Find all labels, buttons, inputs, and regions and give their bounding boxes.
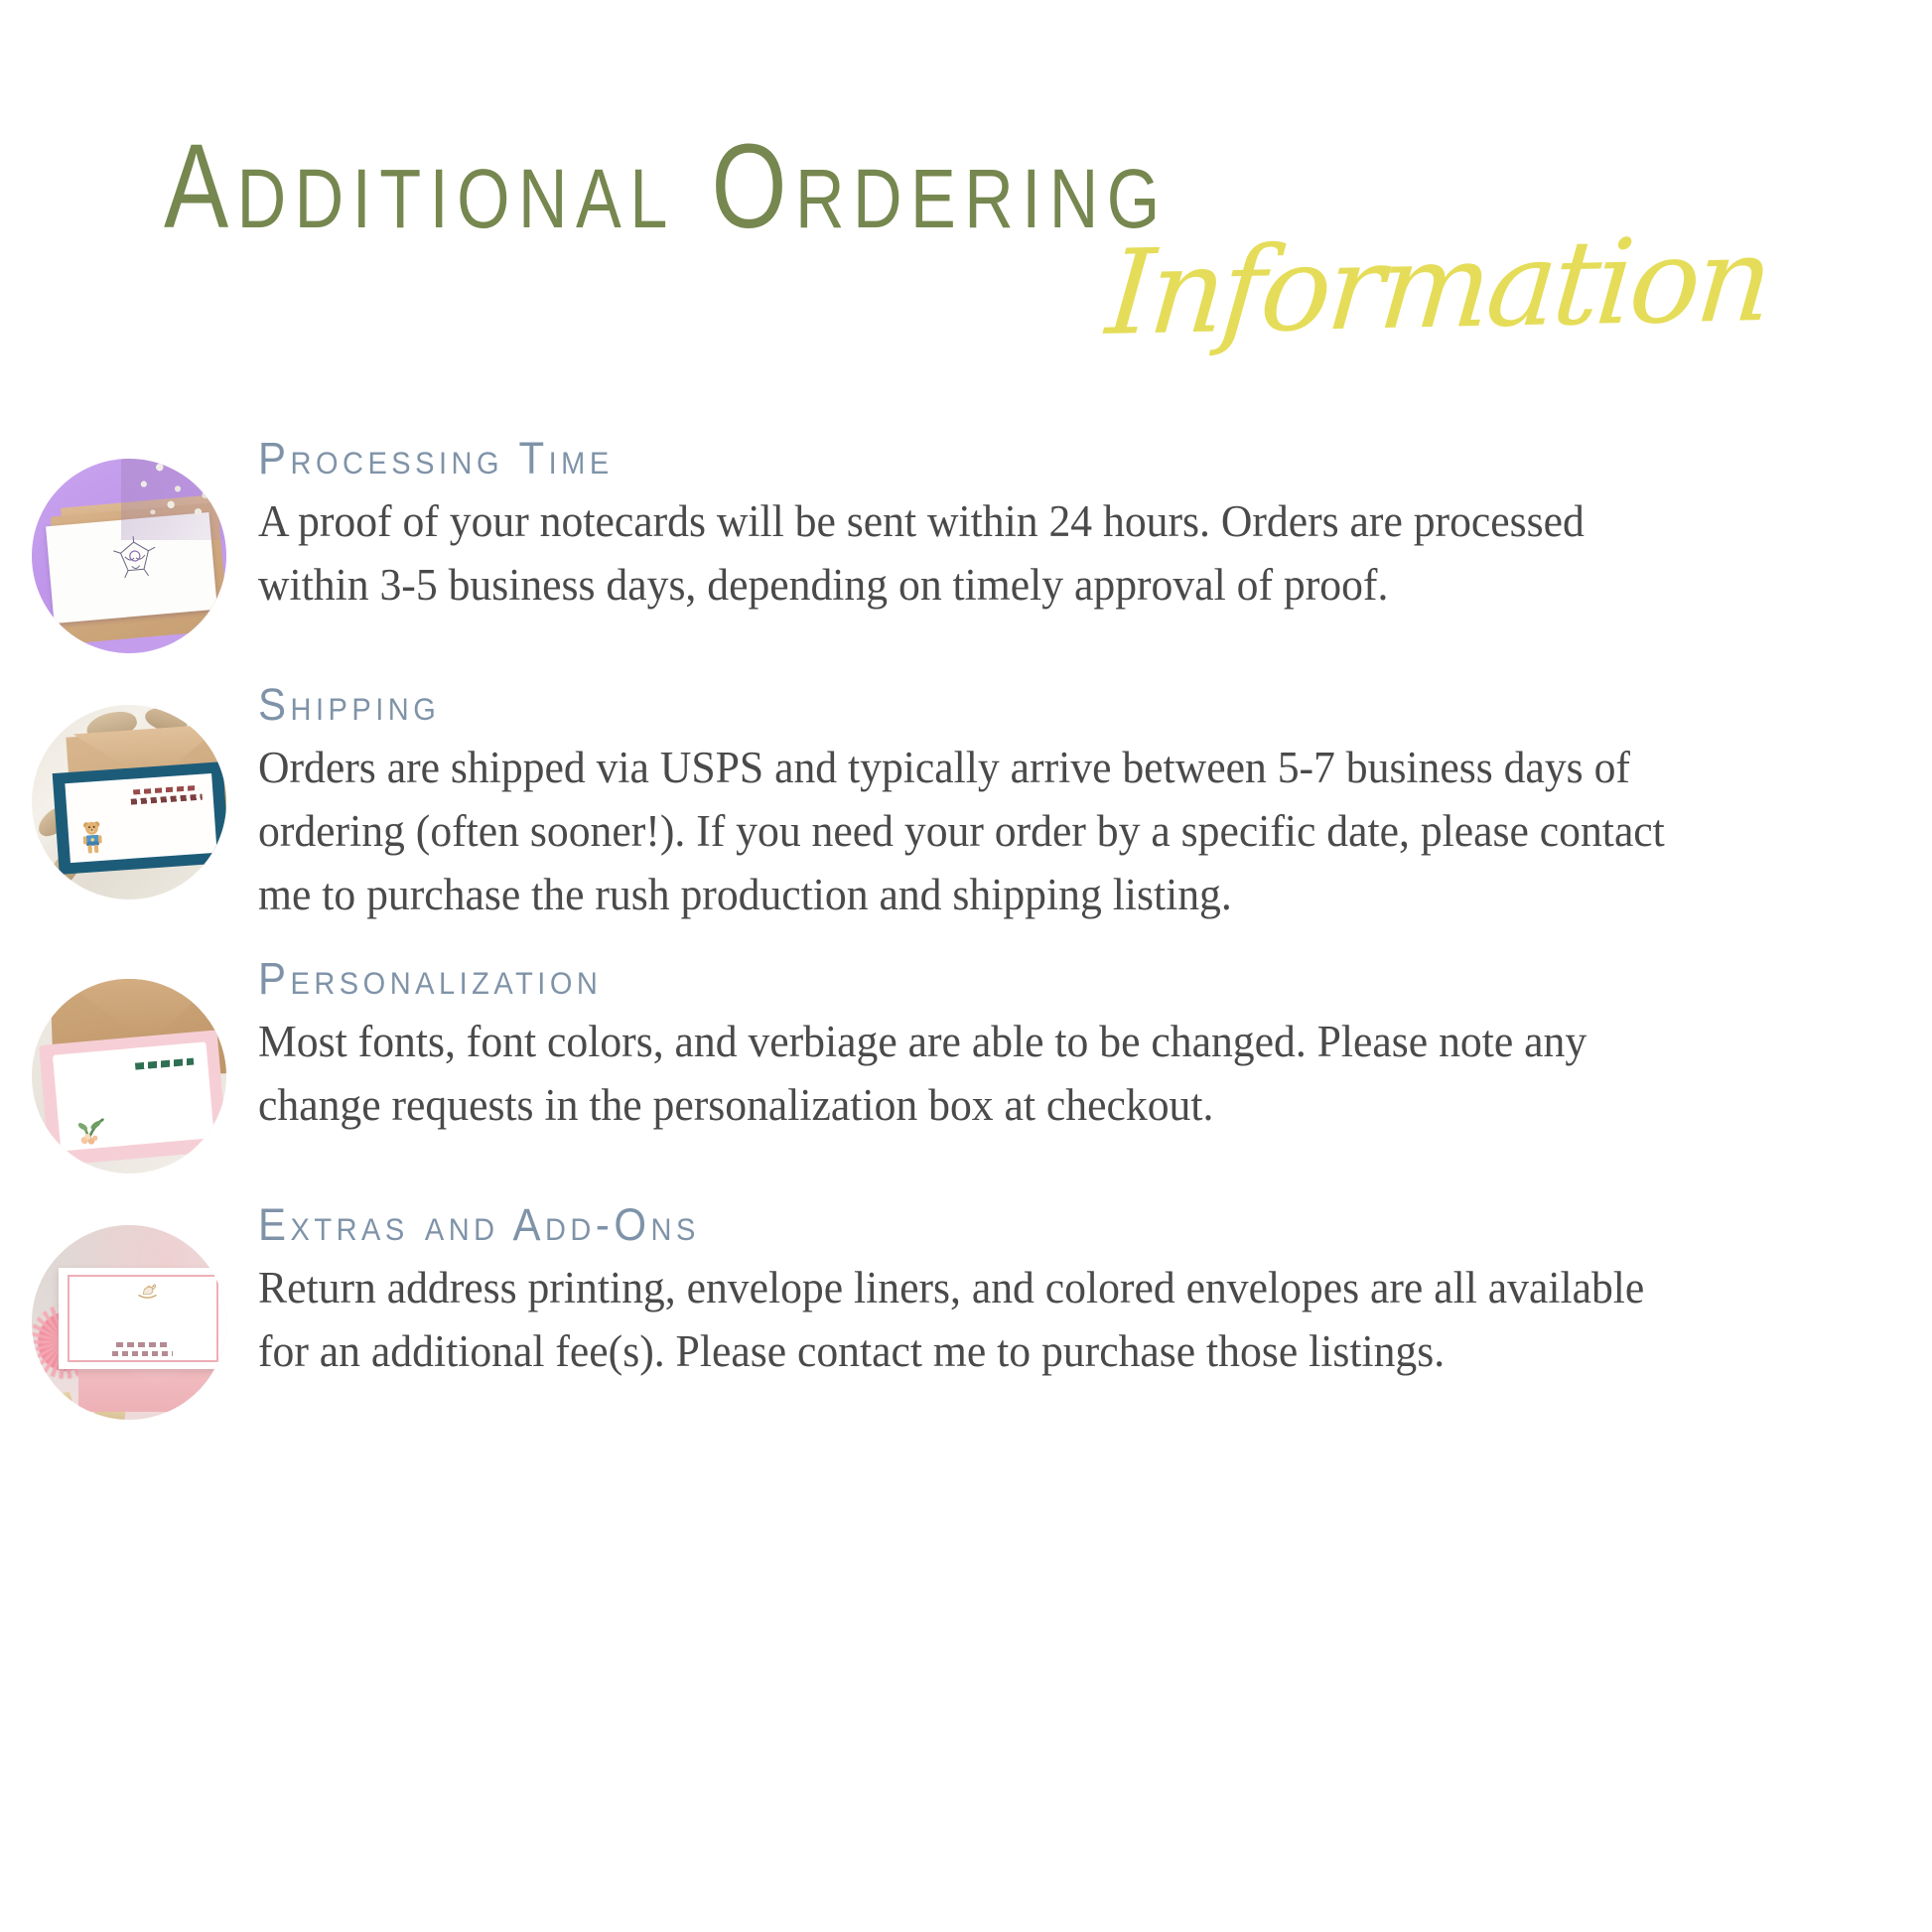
section-personalization: Personalization Most fonts, font colors,…	[0, 957, 1932, 1173]
page-header: Additional Ordering Information	[0, 0, 1932, 397]
notecard-inner	[65, 773, 216, 863]
section-body: Orders are shipped via USPS and typicall…	[258, 737, 1680, 927]
section-text: Processing Time A proof of your notecard…	[258, 437, 1932, 618]
section-body: Return address printing, envelope liners…	[258, 1257, 1680, 1384]
section-shipping: Shipping Orders are shipped via USPS and…	[0, 683, 1932, 927]
section-body: A proof of your notecards will be sent w…	[258, 490, 1680, 618]
thumbnail-wrap	[0, 683, 258, 899]
white-notecard	[59, 1268, 226, 1369]
notecard-script-line	[133, 785, 198, 795]
lavender-notecard-photo	[32, 459, 226, 653]
thumbnail-wrap	[0, 437, 258, 653]
page-title: Additional Ordering	[164, 127, 1169, 247]
section-text: Personalization Most fonts, font colors,…	[258, 957, 1932, 1138]
section-heading: Shipping	[258, 679, 1724, 731]
teal-teddy-bear-notecard-photo	[32, 705, 226, 899]
notecard-inner	[52, 1041, 213, 1151]
babys-breath-sprig	[121, 459, 226, 540]
section-heading: Extras and Add-Ons	[258, 1199, 1724, 1251]
pink-scalloped-notecard-photo	[32, 979, 226, 1173]
section-heading: Processing Time	[258, 433, 1724, 484]
pink-scalloped-notecard	[39, 1030, 226, 1166]
section-heading: Personalization	[258, 953, 1724, 1005]
thumbnail-wrap	[0, 1203, 258, 1420]
teddy-bear-icon	[76, 819, 108, 856]
section-text: Extras and Add-Ons Return address printi…	[258, 1203, 1932, 1384]
thumbnail-wrap	[0, 957, 258, 1173]
rocking-horse-icon	[134, 1281, 161, 1299]
notecard-name-script	[135, 1058, 194, 1070]
section-body: Most fonts, font colors, and verbiage ar…	[258, 1011, 1680, 1138]
section-processing-time: Processing Time A proof of your notecard…	[0, 437, 1932, 653]
section-text: Shipping Orders are shipped via USPS and…	[258, 683, 1932, 927]
info-sections: Processing Time A proof of your notecard…	[0, 437, 1932, 1449]
notecard-address-line	[112, 1351, 173, 1356]
notecard-script-line	[116, 1342, 170, 1347]
blush-rocking-horse-notecard-photo	[32, 1225, 226, 1420]
notecard-name-line	[130, 793, 201, 804]
teal-notecard	[52, 761, 226, 875]
floral-sprig-icon	[67, 1115, 112, 1148]
section-extras-and-add-ons: Extras and Add-Ons Return address printi…	[0, 1203, 1932, 1420]
floral-crest-icon	[108, 534, 164, 582]
page-title-script: Information	[1103, 220, 1773, 351]
